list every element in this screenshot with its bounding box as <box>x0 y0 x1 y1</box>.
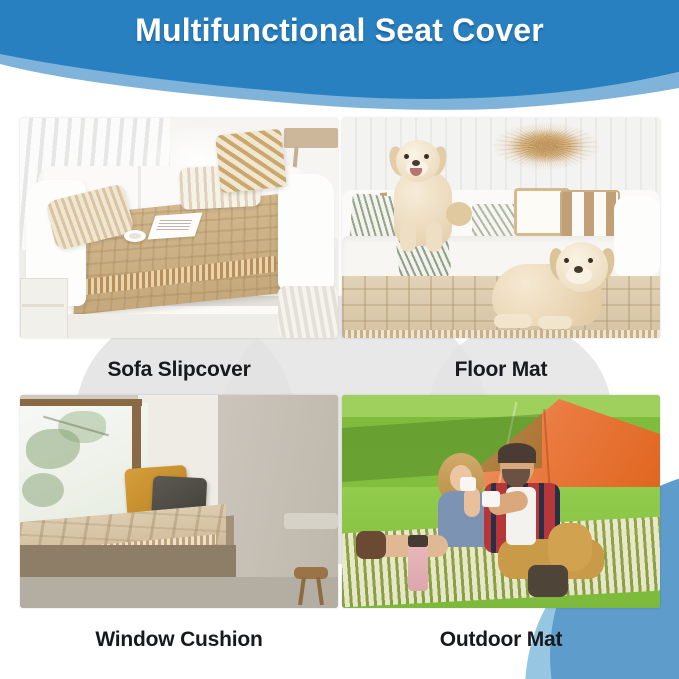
sofa-slipcover-photo[interactable] <box>20 118 338 338</box>
use-case-card-floor-mat[interactable]: Floor Mat <box>342 118 660 382</box>
page-title: Multifunctional Seat Cover <box>0 12 679 49</box>
use-case-card-window-cushion[interactable]: Window Cushion <box>20 395 338 652</box>
use-case-label-outdoor-mat: Outdoor Mat <box>342 608 660 652</box>
use-case-label-window-cushion: Window Cushion <box>20 608 338 652</box>
product-infographic: Multifunctional Seat Cover <box>0 0 679 679</box>
use-case-label-floor-mat: Floor Mat <box>342 338 660 382</box>
use-case-card-sofa-slipcover[interactable]: Sofa Slipcover <box>20 118 338 382</box>
floor-mat-photo[interactable] <box>342 118 660 338</box>
use-case-grid: Sofa Slipcover <box>0 118 679 679</box>
use-case-card-outdoor-mat[interactable]: Outdoor Mat <box>342 395 660 652</box>
window-cushion-photo[interactable] <box>20 395 338 608</box>
header-banner: Multifunctional Seat Cover <box>0 0 679 118</box>
outdoor-mat-photo[interactable] <box>342 395 660 608</box>
use-case-label-sofa-slipcover: Sofa Slipcover <box>20 338 338 382</box>
